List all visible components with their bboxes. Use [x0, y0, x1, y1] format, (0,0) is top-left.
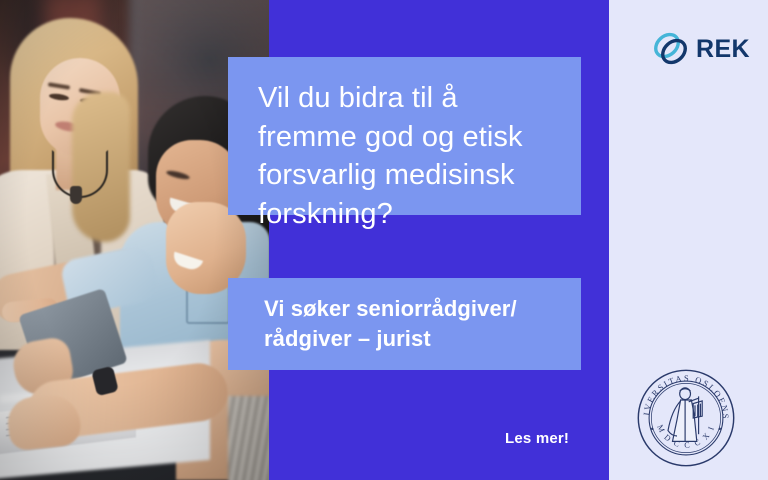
uio-seal: UNIVERSITAS OSLOENSIS M D C C C X I — [632, 364, 740, 472]
uio-seal-figure — [668, 388, 702, 442]
job-title: Vi søker seniorrådgiver/ rådgiver – juri… — [264, 294, 561, 355]
read-more-link[interactable]: Les mer! — [505, 430, 569, 447]
page-title: Vil du bidra til å fremme god og etisk f… — [258, 79, 555, 233]
headline-box: Vil du bidra til å fremme god og etisk f… — [228, 57, 581, 215]
rek-wordmark: REK — [696, 37, 750, 62]
recruitment-banner: Vil du bidra til å fremme god og etisk f… — [0, 0, 768, 480]
job-title-box: Vi søker seniorrådgiver/ rådgiver – juri… — [228, 278, 581, 370]
two-interlocking-rings-icon — [650, 28, 692, 70]
rek-logo[interactable]: REK — [650, 28, 750, 70]
